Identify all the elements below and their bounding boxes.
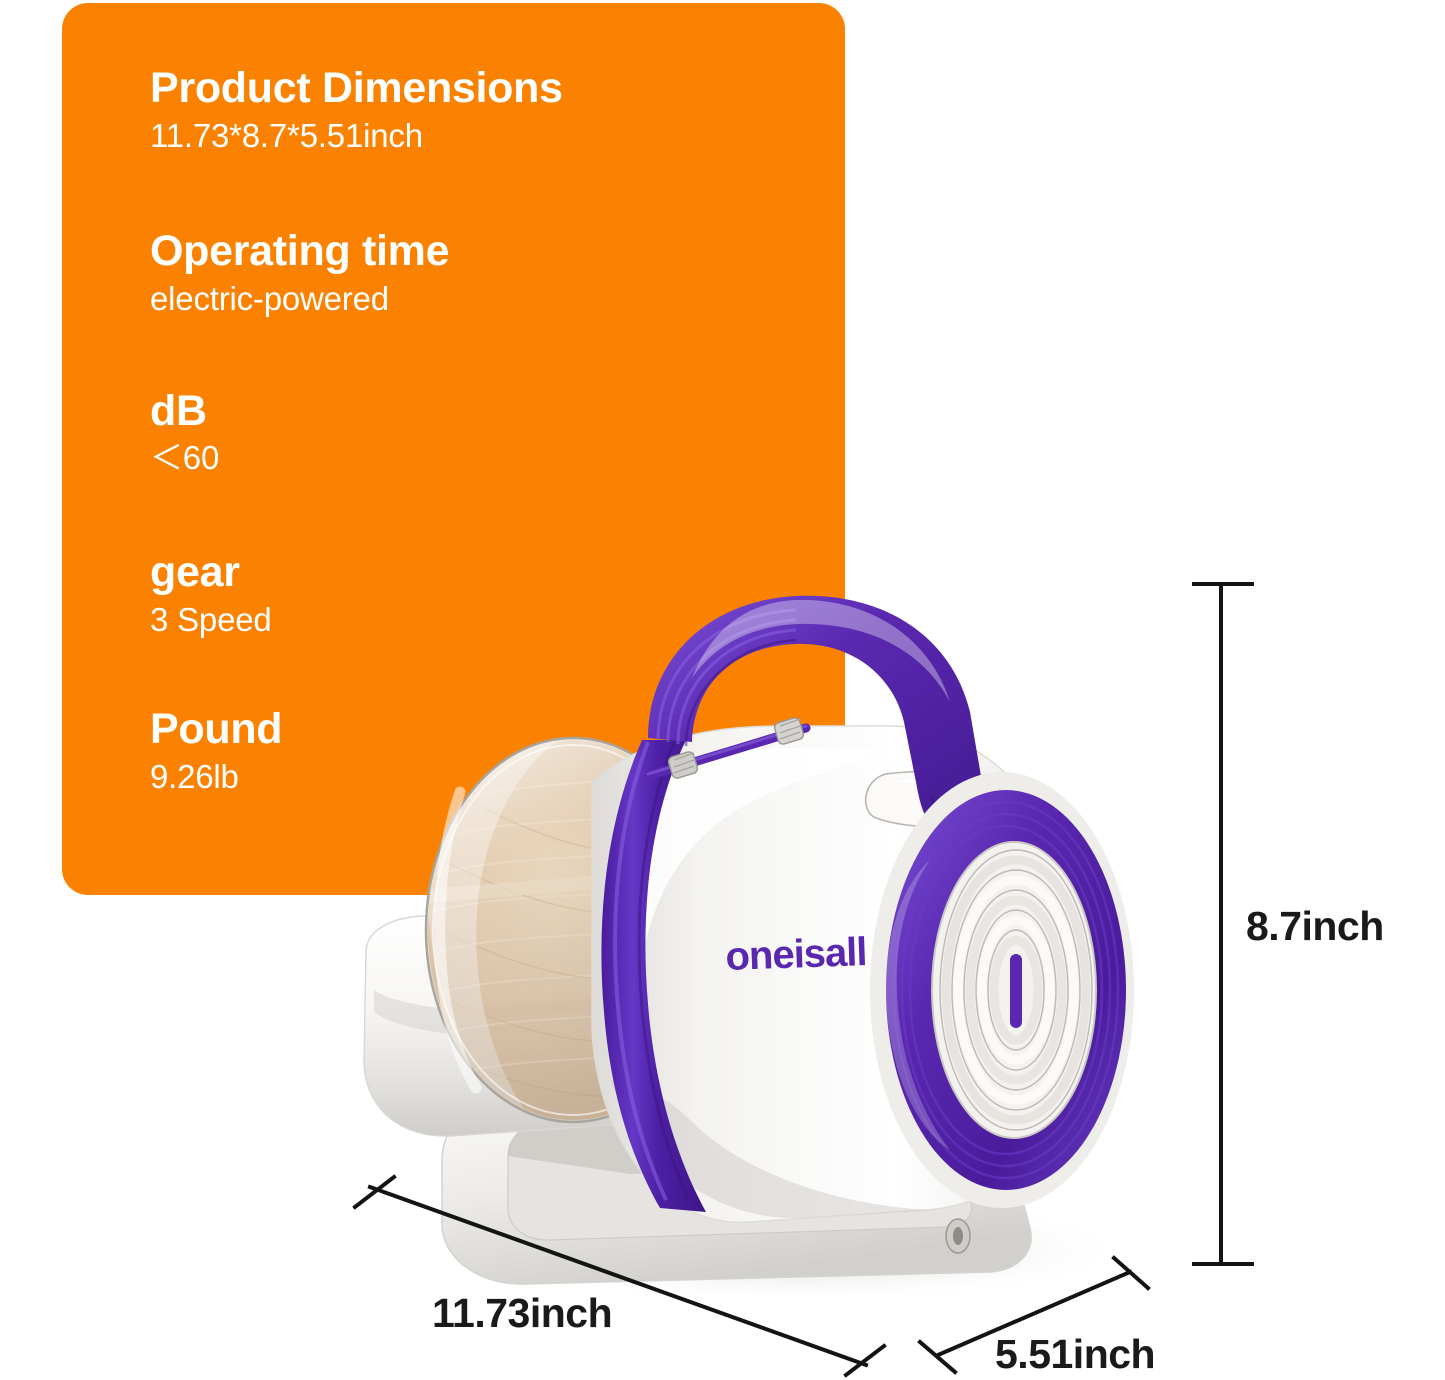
spec-value-operating-time: electric-powered xyxy=(150,277,845,322)
spec-operating-time: Operating time electric-powered xyxy=(150,226,845,321)
product-image: oneisall xyxy=(330,560,1210,1340)
spec-value-db: ＜60 xyxy=(150,436,845,481)
spec-value-product-dimensions: 11.73*8.7*5.51inch xyxy=(150,114,845,159)
width-cap-right xyxy=(846,1346,884,1375)
spec-title-operating-time: Operating time xyxy=(150,226,845,277)
spec-product-dimensions: Product Dimensions 11.73*8.7*5.51inch xyxy=(150,63,845,158)
product-infographic: Product Dimensions 11.73*8.7*5.51inch Op… xyxy=(0,0,1445,1380)
depth-cap-left xyxy=(920,1342,955,1372)
spec-title-db: dB xyxy=(150,386,845,437)
height-dimension-label: 8.7inch xyxy=(1246,903,1384,950)
bottom-port xyxy=(946,1219,970,1253)
brand-logo: oneisall xyxy=(725,930,867,979)
spec-db: dB ＜60 xyxy=(150,386,845,481)
fan-grille-endcap xyxy=(870,772,1134,1208)
center-slot xyxy=(1010,954,1022,1028)
spec-title-product-dimensions: Product Dimensions xyxy=(150,63,845,114)
